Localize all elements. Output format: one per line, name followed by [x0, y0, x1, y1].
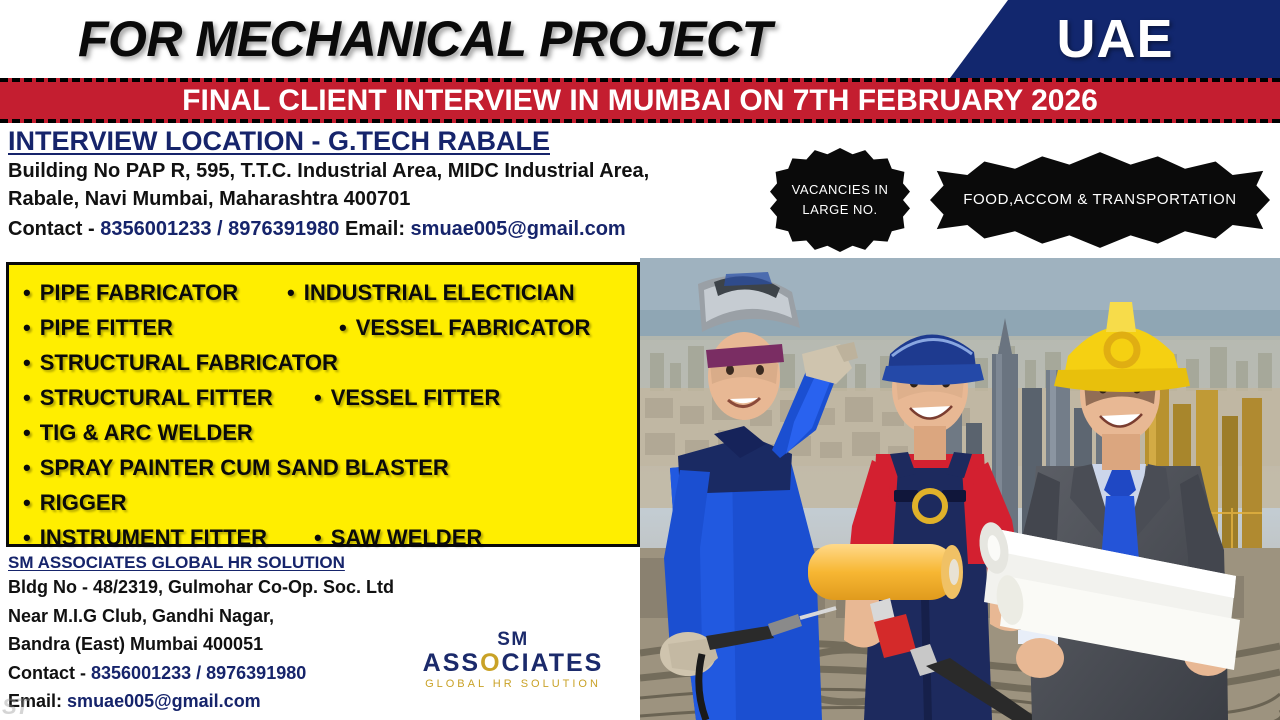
- job-item: VESSEL FITTER: [314, 380, 500, 415]
- watermark: ST: [2, 694, 28, 720]
- job-positions-panel: PIPE FABRICATOR INDUSTRIAL ELECTICIAN PI…: [6, 262, 640, 547]
- logo-assoc-o: O: [480, 649, 501, 677]
- benefits-badge-label: FOOD,ACCOM & TRANSPORTATION: [963, 188, 1236, 213]
- job-row: RIGGER: [9, 485, 637, 520]
- logo-line-associates: ASSOCIATES: [408, 650, 618, 676]
- contact-label: Contact -: [8, 218, 95, 240]
- workers-illustration: [640, 258, 1280, 720]
- recruitment-poster: FOR MECHANICAL PROJECT UAE FINAL CLIENT …: [0, 0, 1280, 720]
- job-row: PIPE FABRICATOR INDUSTRIAL ELECTICIAN: [9, 275, 637, 310]
- logo-tagline: GLOBAL HR SOLUTION: [408, 676, 618, 694]
- benefits-badge: FOOD,ACCOM & TRANSPORTATION: [930, 148, 1270, 252]
- job-row: SPRAY PAINTER CUM SAND BLASTER: [9, 450, 637, 485]
- email-address[interactable]: smuae005@gmail.com: [411, 218, 626, 240]
- phone-number-2[interactable]: 8976391980: [228, 218, 339, 240]
- agency-contact-label: Contact -: [8, 663, 86, 683]
- vacancies-badge: VACANCIES IN LARGE NO.: [770, 148, 910, 252]
- interview-location-heading: INTERVIEW LOCATION - G.TECH RABALE: [8, 127, 788, 157]
- interview-announcement-banner: FINAL CLIENT INTERVIEW IN MUMBAI ON 7TH …: [0, 78, 1280, 123]
- job-row: STRUCTURAL FABRICATOR: [9, 345, 637, 380]
- agency-phone-numbers[interactable]: 8356001233 / 8976391980: [91, 663, 306, 683]
- interview-announcement-text: FINAL CLIENT INTERVIEW IN MUMBAI ON 7TH …: [182, 84, 1098, 118]
- logo-assoc-part2: CIATES: [502, 649, 604, 677]
- agency-logo: SM ASSOCIATES GLOBAL HR SOLUTION: [408, 630, 618, 694]
- agency-address-line-1: Bldg No - 48/2319, Gulmohar Co-Op. Soc. …: [8, 573, 478, 601]
- job-item: SPRAY PAINTER CUM SAND BLASTER: [23, 450, 449, 485]
- job-row: TIG & ARC WELDER: [9, 415, 637, 450]
- job-item: STRUCTURAL FABRICATOR: [23, 345, 338, 380]
- email-label: Email:: [345, 218, 405, 240]
- header-bar: FOR MECHANICAL PROJECT UAE: [0, 0, 1280, 78]
- interview-address-line-2: Rabale, Navi Mumbai, Maharashtra 400701: [8, 185, 788, 213]
- phone-separator: /: [217, 218, 223, 240]
- job-item: PIPE FABRICATOR: [23, 275, 238, 310]
- job-item: TIG & ARC WELDER: [23, 415, 253, 450]
- job-item: INSTRUMENT FITTER: [23, 520, 267, 555]
- phone-number-1[interactable]: 8356001233: [100, 218, 211, 240]
- interview-address-line-1: Building No PAP R, 595, T.T.C. Industria…: [8, 157, 788, 185]
- country-badge-label: UAE: [1056, 12, 1173, 66]
- job-item: VESSEL FABRICATOR: [339, 310, 590, 345]
- interview-contact-line: Contact - 8356001233 / 8976391980 Email:…: [8, 214, 788, 244]
- job-item: INDUSTRIAL ELECTICIAN: [287, 275, 575, 310]
- agency-email-address[interactable]: smuae005@gmail.com: [67, 691, 261, 711]
- page-title: FOR MECHANICAL PROJECT: [78, 4, 938, 74]
- job-item: RIGGER: [23, 485, 127, 520]
- interview-location-block: INTERVIEW LOCATION - G.TECH RABALE Build…: [8, 127, 788, 244]
- job-row: INSTRUMENT FITTER SAW WELDER: [9, 520, 637, 555]
- job-item: PIPE FITTER: [23, 310, 173, 345]
- job-item: STRUCTURAL FITTER: [23, 380, 273, 415]
- logo-assoc-part1: ASS: [423, 649, 480, 677]
- country-badge: UAE: [950, 0, 1280, 78]
- logo-line-sm: SM: [408, 630, 618, 650]
- agency-name: SM ASSOCIATES GLOBAL HR SOLUTION: [8, 552, 478, 573]
- vacancies-badge-label: VACANCIES IN LARGE NO.: [770, 180, 910, 220]
- job-item: SAW WELDER: [314, 520, 482, 555]
- agency-address-line-2: Near M.I.G Club, Gandhi Nagar,: [8, 602, 478, 630]
- workers-photo: [640, 258, 1280, 720]
- job-row: PIPE FITTER VESSEL FABRICATOR: [9, 310, 637, 345]
- job-row: STRUCTURAL FITTER VESSEL FITTER: [9, 380, 637, 415]
